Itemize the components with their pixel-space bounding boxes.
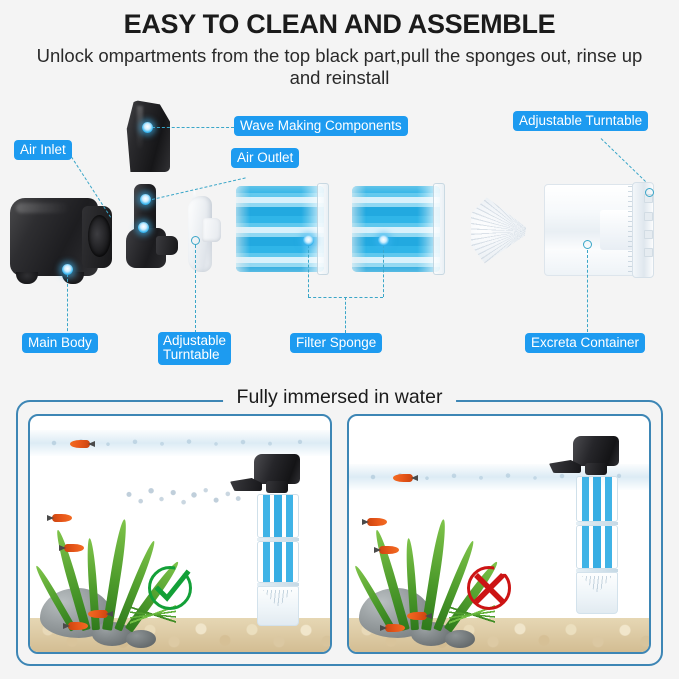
label-wave-making-components[interactable]: Wave Making Components (234, 116, 408, 136)
label-adjustable-turntable-top[interactable]: Adjustable Turntable (513, 111, 648, 131)
rock-small-2 (126, 630, 156, 648)
label-air-inlet[interactable]: Air Inlet (14, 140, 72, 160)
marker-dot-turntable-top (645, 188, 654, 197)
fish (367, 518, 387, 526)
marker-dot-sponge-right (378, 235, 389, 246)
connector-turntable-top (601, 138, 646, 182)
exploded-diagram: Air Inlet Wave Making Components Air Out… (0, 92, 679, 367)
label-excreta-container[interactable]: Excreta Container (525, 333, 645, 353)
connector-sponge-right (383, 245, 384, 297)
marker-dot-excreta-container (583, 240, 592, 249)
filter-sponge-right (352, 186, 440, 272)
check-icon (148, 566, 192, 610)
connector-wave-making (152, 127, 234, 128)
aquarium-panel-incorrect (347, 414, 651, 654)
connector-turntable-bottom (195, 245, 196, 333)
bubble-stream (116, 484, 246, 510)
marker-dot-wave-making (142, 122, 153, 133)
label-filter-sponge[interactable]: Filter Sponge (290, 333, 382, 353)
cross-icon (467, 566, 511, 610)
funnel-cone (470, 196, 526, 264)
fish (52, 514, 72, 522)
fish (379, 546, 399, 554)
fish (88, 610, 108, 618)
connector-sponge-left (308, 245, 309, 297)
fish (393, 474, 413, 482)
label-air-outlet[interactable]: Air Outlet (231, 148, 299, 168)
filter-sponge-left (236, 186, 324, 272)
rock-small-2 (445, 630, 475, 648)
marker-dot-turntable (191, 236, 200, 245)
fish (385, 624, 405, 632)
immersion-section: Fully immersed in water (16, 400, 663, 666)
connector-main-body (67, 274, 68, 336)
marker-dot-main-body (62, 264, 73, 275)
page-title: EASY TO CLEAN AND ASSEMBLE (0, 10, 679, 40)
page-subtitle: Unlock ompartments from the top black pa… (0, 45, 679, 89)
label-adjustable-turntable-bottom[interactable]: Adjustable Turntable (158, 332, 231, 365)
marker-dot-air-outlet (140, 194, 151, 205)
header: EASY TO CLEAN AND ASSEMBLE Unlock ompart… (0, 0, 679, 88)
marker-dot-air-inlet (138, 222, 149, 233)
adjustable-turntable-bracket (182, 196, 222, 276)
filter-device (248, 454, 310, 624)
fish (70, 440, 90, 448)
connector-excreta-container (587, 250, 588, 332)
excreta-container-cylinder (544, 184, 656, 276)
main-body-pump (10, 198, 114, 288)
aquarium-panel-correct (28, 414, 332, 654)
wave-making-component (124, 100, 170, 172)
label-main-body[interactable]: Main Body (22, 333, 98, 353)
connector-sponge-stem (345, 297, 346, 333)
fish (68, 622, 88, 630)
fish (64, 544, 84, 552)
marker-dot-sponge-left (303, 235, 314, 246)
filter-device (567, 436, 629, 616)
fish (407, 612, 427, 620)
immersion-section-title: Fully immersed in water (223, 386, 457, 409)
